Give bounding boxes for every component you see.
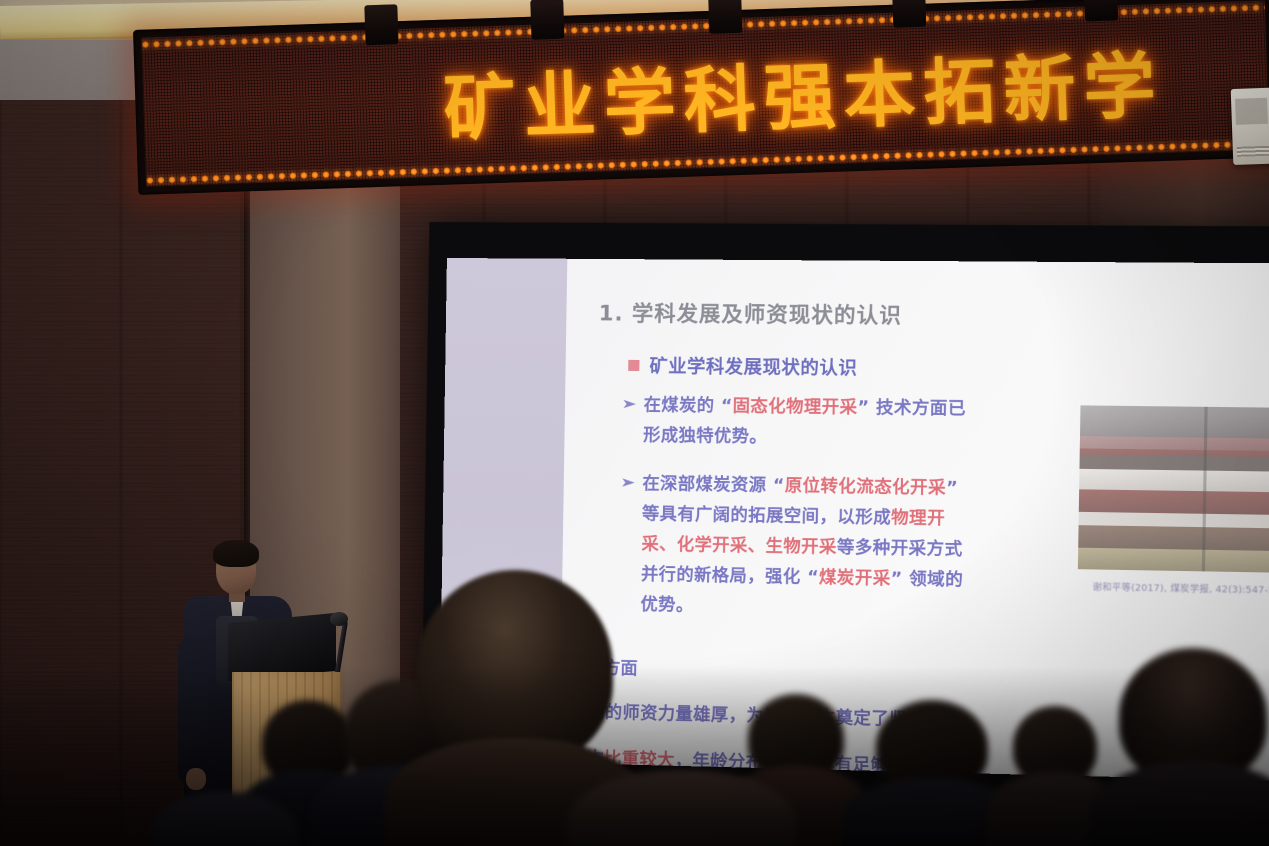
arrow-bullet-icon: ➤: [620, 477, 636, 490]
strata-surface: [1080, 405, 1269, 451]
highlighted-phrase: 原位转化流态化开采: [785, 476, 947, 499]
led-mount-bracket: [1084, 0, 1118, 21]
led-mount-bracket: [708, 0, 742, 34]
slide-bullet-level2-text: 在深部煤炭资源 “原位转化流态化开采” 等具有广阔的拓展空间，以形成物理开采、化…: [640, 469, 976, 627]
slide-bullet-level1-text: 矿业学科发展现状的认识: [649, 352, 857, 380]
led-banner-text: 矿业学科强本拓新学: [442, 26, 1165, 155]
slide-bullet-level2: ➤ 在深部煤炭资源 “原位转化流态化开采” 等具有广阔的拓展空间，以形成物理开采…: [620, 469, 976, 627]
slide-bullet-level2: ➤ 在煤炭的 “固态化物理开采” 技术方面已形成独特优势。: [623, 390, 978, 455]
presenter-hair: [213, 540, 259, 567]
highlighted-phrase: 煤炭开采: [819, 568, 891, 590]
slide-bullet-level1: 矿业学科发展现状的认识: [628, 352, 858, 381]
conference-hall-photo: 矿业学科强本拓新学 1. 学科发展及师资现状的认识 矿业学科发展现状的认识 ➤ …: [0, 0, 1269, 846]
gooseneck-microphone: [330, 612, 366, 674]
microphone-head: [330, 612, 348, 626]
plain-phrase: 在煤炭的 “: [644, 395, 733, 416]
wall-mounted-device: [1231, 87, 1269, 165]
slide-bullet-level2-text: 在煤炭的 “固态化物理开采” 技术方面已形成独特优势。: [643, 390, 977, 455]
plain-phrase: 在深部煤炭资源 “: [642, 474, 785, 496]
led-mount-bracket: [892, 0, 926, 28]
figure-citation: 谢和平等(2017), 煤炭学报, 42(3):547-556.: [1070, 579, 1269, 597]
slide-title: 1. 学科发展及师资现状的认识: [599, 297, 903, 330]
floor-shadow: [0, 666, 1269, 846]
arrow-bullet-icon: ➤: [621, 398, 637, 411]
square-bullet-icon: [628, 359, 639, 370]
highlighted-phrase: 固态化物理开采: [733, 396, 858, 418]
led-mount-bracket: [530, 0, 564, 40]
strata-layer: [1078, 548, 1269, 573]
geology-strata-figure: [1078, 405, 1269, 573]
led-mount-bracket: [364, 4, 398, 45]
